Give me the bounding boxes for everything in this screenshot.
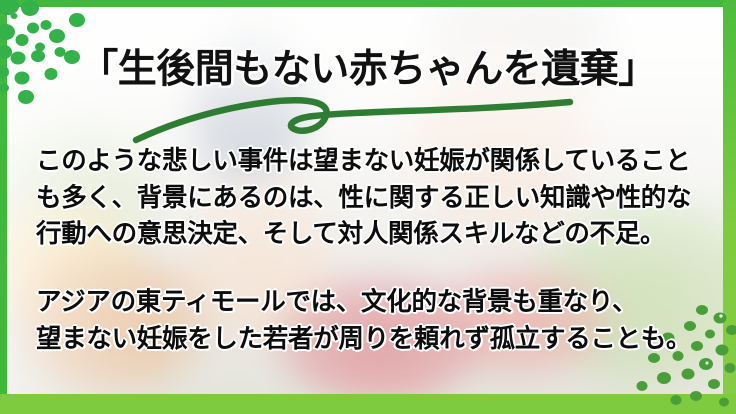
paragraph-line: も多く、背景にあるのは、性に関する正しい知識や性的な [36, 180, 704, 217]
paragraph-line: アジアの東ティモールでは、文化的な背景も重なり、 [36, 284, 704, 321]
paragraph-line: 行動への意思決定、そして対人関係スキルなどの不足。 [36, 216, 704, 253]
slide-canvas: 「生後間もない赤ちゃんを遺棄」 このような悲しい事件は望まない妊娠が関係している… [0, 0, 736, 414]
page-title: 「生後間もない赤ちゃんを遺棄」 [79, 49, 657, 91]
frame-border-top [0, 0, 736, 7]
body-text-container: このような悲しい事件は望まない妊娠が関係していること も多く、背景にあるのは、性… [36, 143, 704, 358]
paragraph-line: このような悲しい事件は望まない妊娠が関係していること [36, 143, 704, 180]
paragraph-spacer [36, 253, 704, 284]
paragraph-line: 望まない妊娠をした若者が周りを頼れず孤立することも。 [36, 321, 704, 358]
title-container: 「生後間もない赤ちゃんを遺棄」 [0, 49, 736, 91]
frame-border-bottom [0, 394, 736, 414]
